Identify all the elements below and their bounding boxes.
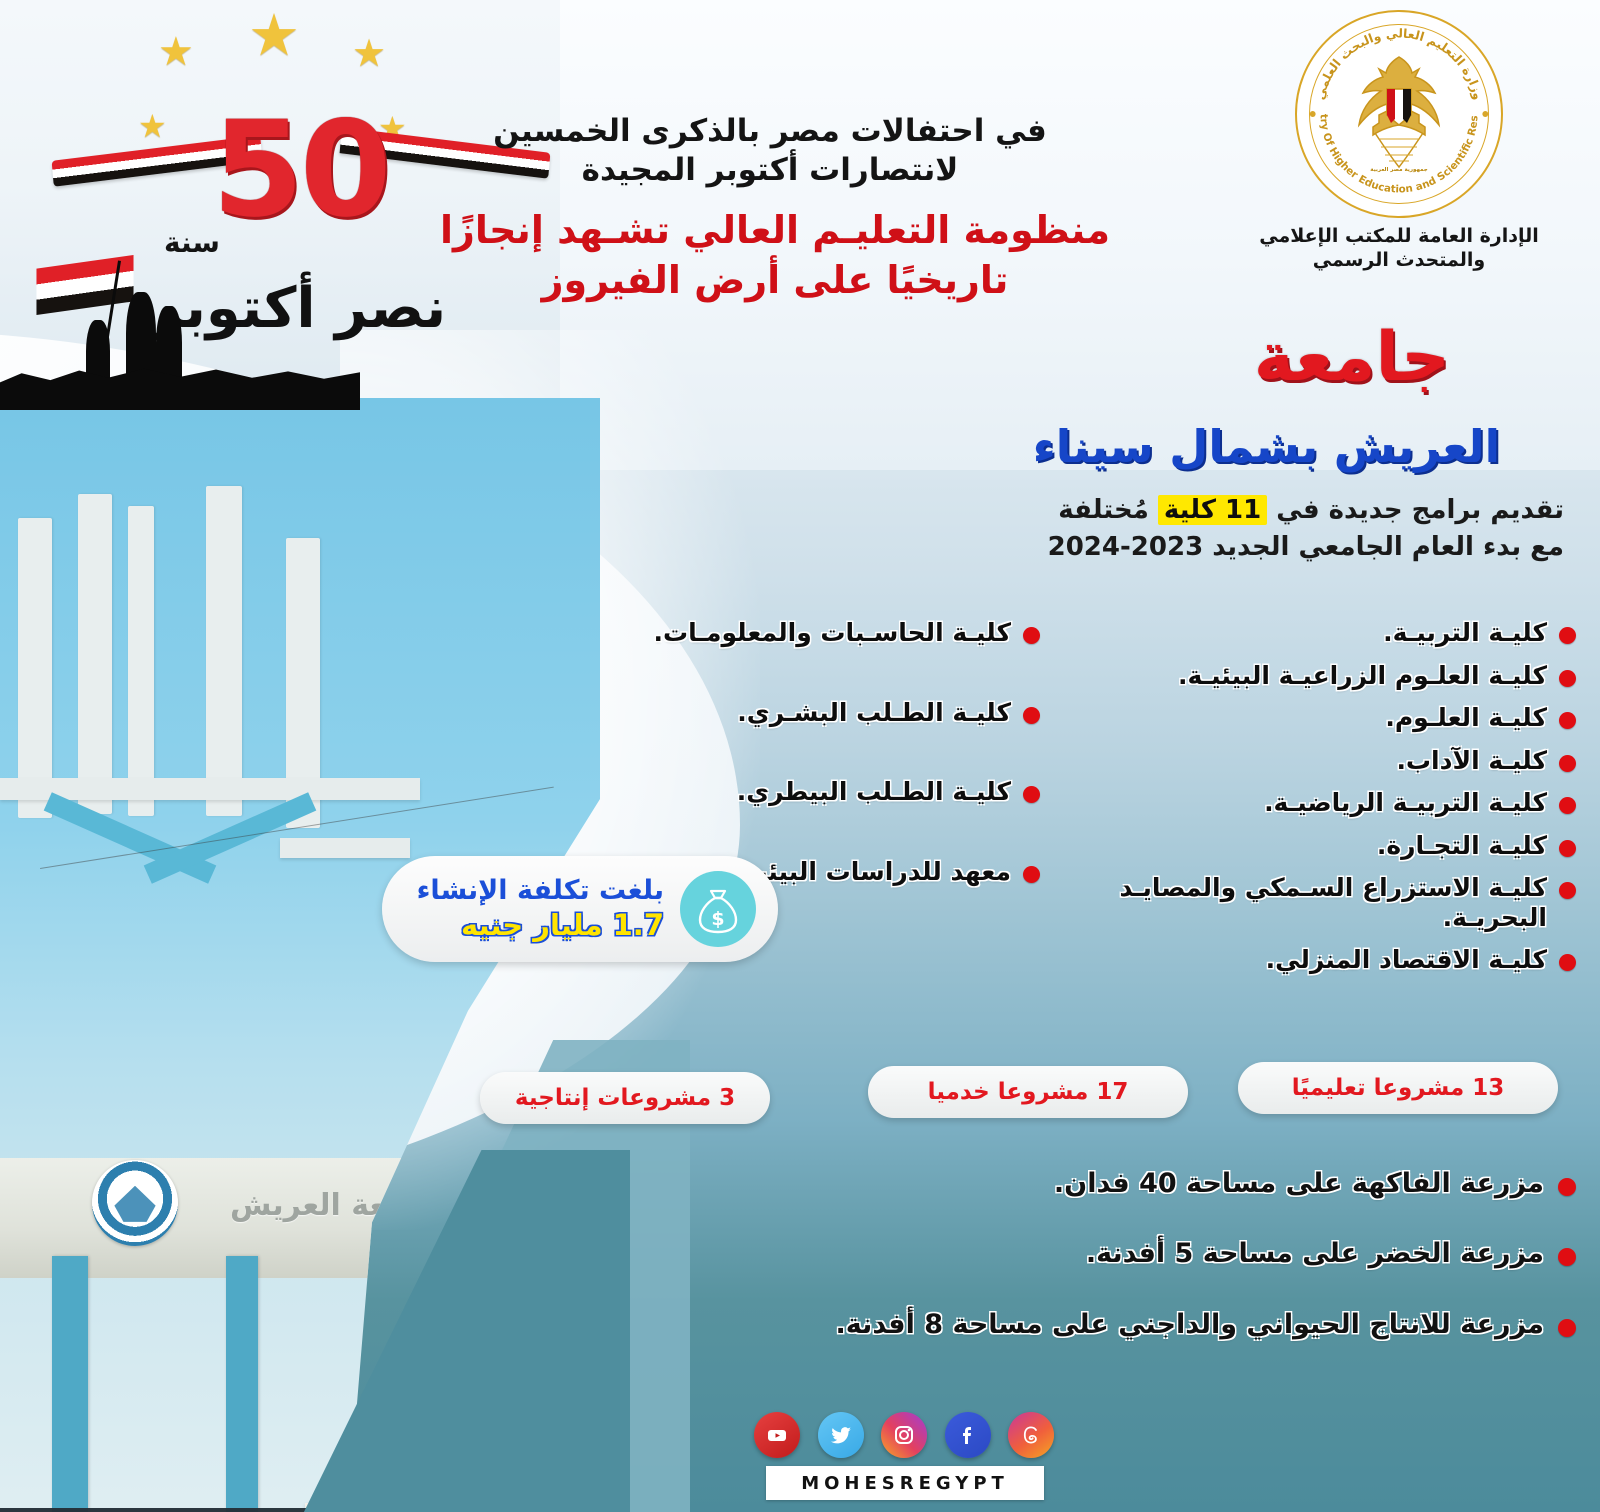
headline-line-2: تاريخيًا على أرض الفيروز [405, 255, 1145, 305]
photo-slat [206, 486, 242, 816]
photo-pillar [52, 1256, 88, 1512]
star-icon: ★ [352, 34, 386, 72]
faculty-label: كليـة العلـوم. [1385, 703, 1547, 733]
list-item: كليـة العلـوم الزراعيـة البيئيـة. [1036, 661, 1576, 691]
project-pill-production: 3 مشروعات إنتاجية [480, 1072, 770, 1124]
list-item: كليـة الآداب. [1036, 746, 1576, 776]
cost-label: بلغت تكلفة الإنشاء [396, 875, 664, 907]
bullet-icon [1559, 840, 1576, 857]
cost-value: 1.7 مليار جنيه [396, 908, 664, 943]
photo-slat [128, 506, 154, 816]
ministry-subtitle-line-2: والمتحدث الرسمي [1234, 248, 1564, 272]
svg-text:وزارة التعليم العالي والبحث ال: وزارة التعليم العالي والبحث العلمي [1313, 26, 1485, 101]
farm-list: مزرعة الفاكهة على مساحة 40 فدان. مزرعة ا… [476, 1168, 1576, 1379]
bullet-icon [1558, 1248, 1576, 1266]
twitter-icon[interactable] [818, 1412, 864, 1458]
photo-slat [18, 518, 52, 818]
ministry-block: جمهورية مصر العربية وزارة التعليم العالي… [1234, 10, 1564, 273]
bullet-icon [1559, 797, 1576, 814]
project-pill-service: 17 مشروعا خدميا [868, 1066, 1188, 1118]
bullet-icon [1023, 627, 1040, 644]
faculty-label: كليـة الاقتصاد المنزلي. [1266, 945, 1547, 975]
bullet-icon [1558, 1178, 1576, 1196]
soldiers-silhouette [0, 250, 360, 410]
ministry-ring-text: وزارة التعليم العالي والبحث العلمي Minis… [1297, 12, 1501, 216]
faculty-label: معهد للدراسات البيئية. [734, 857, 1011, 887]
bullet-icon [1559, 712, 1576, 729]
star-icon: ★ [248, 6, 300, 64]
faculty-label: كليـة العلـوم الزراعيـة البيئيـة. [1178, 661, 1547, 691]
faculty-label: كليـة الحاسـبات والمعلومـات. [653, 618, 1011, 648]
list-item: كليـة التربيـة. [1036, 618, 1576, 648]
bullet-icon [1559, 627, 1576, 644]
ministry-subtitle: الإدارة العامة للمكتب الإعلامي والمتحدث … [1234, 224, 1564, 273]
infographic-poster: جامعة العريش ★ ★ ★ ★ ★ 50 سنة نصر أكتوبر [0, 0, 1600, 1512]
list-item: كليـة التجـارة. [1036, 831, 1576, 861]
facebook-icon[interactable] [945, 1412, 991, 1458]
bullet-icon [1023, 866, 1040, 883]
list-item: كليـة الطـلب البيطري. [610, 777, 1040, 807]
money-bag-icon: $ [696, 888, 740, 934]
bullet-icon [1559, 882, 1576, 899]
description-line-2: مع بدء العام الجامعي الجديد 2023-2024 [944, 529, 1564, 566]
money-bag-icon-wrap: $ [680, 871, 756, 947]
ministry-subtitle-line-1: الإدارة العامة للمكتب الإعلامي [1234, 224, 1564, 248]
bullet-icon [1558, 1319, 1576, 1337]
description-line-1: تقديم برامج جديدة في 11 كلية مُختلفة [944, 492, 1564, 529]
bullet-icon [1559, 755, 1576, 772]
bullet-icon [1559, 670, 1576, 687]
bullet-icon [1023, 786, 1040, 803]
university-word-jamia: جامعة [1254, 318, 1450, 397]
faculty-label: كليـة الآداب. [1396, 746, 1547, 776]
farm-label: مزرعة الفاكهة على مساحة 40 فدان. [1054, 1168, 1544, 1200]
farm-label: مزرعة للانتاج الحيواني والداجني على مساح… [836, 1309, 1544, 1341]
social-handle: MOHESREGYPT [766, 1466, 1044, 1500]
list-item: مزرعة الخضر على مساحة 5 أفدنة. [476, 1238, 1576, 1270]
header-subtitle: في احتفالات مصر بالذكرى الخمسين لانتصارا… [420, 112, 1120, 190]
faculty-label: كليـة التربيـة الرياضيـة. [1264, 788, 1547, 818]
photo-slat [78, 494, 112, 814]
ministry-of-higher-education-emblem: جمهورية مصر العربية وزارة التعليم العالي… [1295, 10, 1503, 218]
farm-label: مزرعة الخضر على مساحة 5 أفدنة. [1086, 1238, 1544, 1270]
construction-cost-badge: بلغت تكلفة الإنشاء 1.7 مليار جنيه $ [382, 856, 778, 962]
university-name: العريش بشمال سيناء [1033, 420, 1500, 473]
list-item: مزرعة للانتاج الحيواني والداجني على مساح… [476, 1309, 1576, 1341]
star-icon: ★ [138, 110, 167, 142]
faculty-count-highlight: 11 كلية [1158, 495, 1267, 525]
instagram-icon[interactable] [881, 1412, 927, 1458]
faculty-list-right: كليـة التربيـة. كليـة العلـوم الزراعيـة … [1036, 618, 1576, 988]
faculty-label: كليـة الطـلب البيطري. [737, 777, 1011, 807]
faculty-label: كليـة التجـارة. [1377, 831, 1547, 861]
bullet-icon [1023, 707, 1040, 724]
list-item: كليـة الطـلب البشـري. [610, 698, 1040, 728]
faculty-label: كليـة الطـلب البشـري. [737, 698, 1011, 728]
description-post: مُختلفة [1058, 495, 1149, 525]
list-item: كليـة التربيـة الرياضيـة. [1036, 788, 1576, 818]
threads-icon[interactable] [1008, 1412, 1054, 1458]
star-icon: ★ [158, 32, 194, 72]
svg-text:$: $ [711, 908, 724, 930]
project-pill-educational: 13 مشروعا تعليميًا [1238, 1062, 1558, 1114]
list-item: مزرعة الفاكهة على مساحة 40 فدان. [476, 1168, 1576, 1200]
description-pre: تقديم برامج جديدة في [1276, 495, 1564, 525]
list-item: كليـة الحاسـبات والمعلومـات. [610, 618, 1040, 648]
anniversary-number: 50 [212, 104, 388, 236]
list-item: كليـة الاقتصاد المنزلي. [1036, 945, 1576, 975]
faculty-label: كليـة الاستزراع السـمكي والمصايـد البحري… [1036, 873, 1547, 932]
youtube-icon[interactable] [754, 1412, 800, 1458]
header-headline: منظومة التعليـم العالي تشـهد إنجازًا تار… [405, 205, 1145, 305]
bullet-icon [1559, 954, 1576, 971]
arish-university-seal [92, 1160, 178, 1246]
university-description: تقديم برامج جديدة في 11 كلية مُختلفة مع … [944, 492, 1564, 566]
faculty-label: كليـة التربيـة. [1383, 618, 1547, 648]
social-media-bar [754, 1412, 1054, 1458]
cost-text: بلغت تكلفة الإنشاء 1.7 مليار جنيه [396, 875, 664, 942]
headline-line-1: منظومة التعليـم العالي تشـهد إنجازًا [405, 205, 1145, 255]
list-item: كليـة العلـوم. [1036, 703, 1576, 733]
photo-pillar [226, 1256, 258, 1512]
list-item: كليـة الاستزراع السـمكي والمصايـد البحري… [1036, 873, 1576, 932]
photo-iron-gate [0, 1508, 330, 1512]
